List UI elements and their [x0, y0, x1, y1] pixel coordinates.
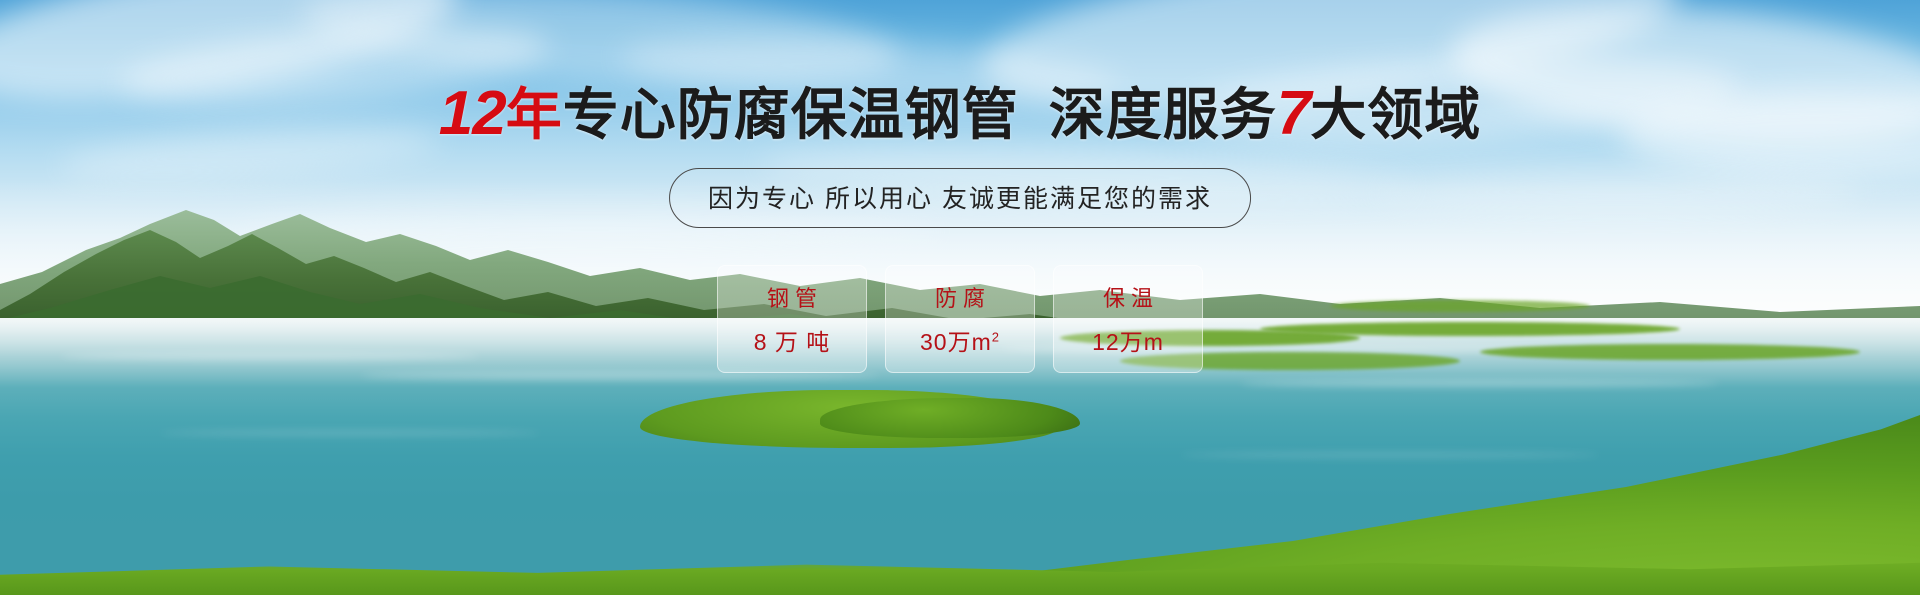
headline-fields-number: 7 [1277, 79, 1310, 148]
stat-card-value: 30万m2 [920, 323, 1000, 357]
stat-card-insulation[interactable]: 保温 12万m [1053, 265, 1203, 373]
banner-content: 12年专心防腐保温钢管深度服务7大领域 因为专心 所以用心 友诚更能满足您的需求… [0, 0, 1920, 595]
stat-card-title: 保温 [1097, 281, 1159, 313]
stat-card-value: 12万m [1092, 323, 1164, 357]
slogan-pill: 因为专心 所以用心 友诚更能满足您的需求 [669, 168, 1251, 228]
stat-card-title: 钢管 [761, 281, 823, 313]
stat-value-text: 8 万 吨 [754, 329, 831, 355]
promo-banner: 12年专心防腐保温钢管深度服务7大领域 因为专心 所以用心 友诚更能满足您的需求… [0, 0, 1920, 595]
stat-card-steel-pipe[interactable]: 钢管 8 万 吨 [717, 265, 867, 373]
headline-second-text: 深度服务 [1049, 83, 1277, 146]
headline-main-text: 专心防腐保温钢管 [563, 83, 1019, 146]
stat-value-superscript: 2 [992, 329, 1000, 344]
stat-value-text: 12万m [1092, 329, 1164, 355]
banner-headline: 12年专心防腐保温钢管深度服务7大领域 [0, 83, 1920, 145]
headline-years-unit: 年 [506, 83, 563, 146]
stat-card-value: 8 万 吨 [754, 323, 831, 357]
headline-fields-text: 大领域 [1310, 83, 1481, 146]
headline-years-number: 12 [439, 79, 506, 148]
stat-card-title: 防腐 [929, 281, 991, 313]
stat-value-text: 30万m [920, 329, 992, 355]
stat-card-group: 钢管 8 万 吨 防腐 30万m2 保温 12万m [717, 265, 1203, 373]
stat-card-anticorrosion[interactable]: 防腐 30万m2 [885, 265, 1035, 373]
